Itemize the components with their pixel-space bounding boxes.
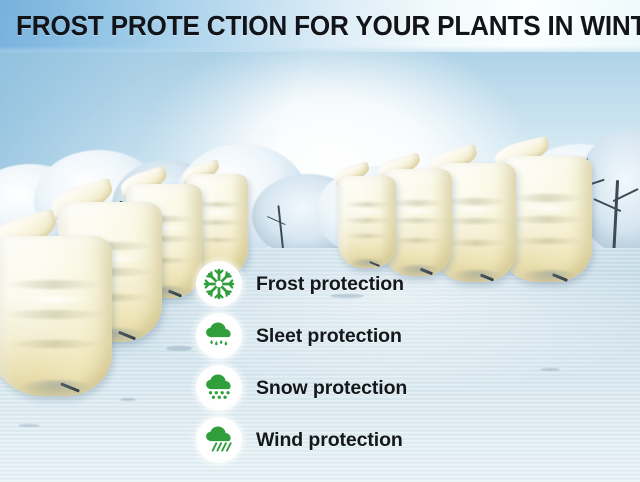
feature-row-sleet: Sleet protection: [196, 310, 456, 362]
feature-row-wind: Wind protection: [196, 414, 456, 466]
feature-label: Snow protection: [256, 377, 407, 400]
feature-label: Frost protection: [256, 273, 404, 296]
feature-label: Wind protection: [256, 429, 403, 452]
snowflake-icon: [196, 261, 242, 307]
title-bar: FROST PROTE CTION FOR YOUR PLANTS IN WIN…: [0, 0, 640, 52]
poster: Frost protection Sleet protection: [0, 0, 640, 482]
cloud-wind-rain-icon: [196, 417, 242, 463]
plant-cover: [338, 166, 396, 268]
feature-row-snow: Snow protection: [196, 362, 456, 414]
cloud-snow-icon: [196, 365, 242, 411]
plant-cover: [0, 218, 112, 396]
page-title: FROST PROTE CTION FOR YOUR PLANTS IN WIN…: [16, 10, 624, 42]
feature-row-frost: Frost protection: [196, 258, 456, 310]
feature-label: Sleet protection: [256, 325, 402, 348]
cloud-rain-icon: [196, 313, 242, 359]
feature-list: Frost protection Sleet protection: [196, 258, 456, 466]
